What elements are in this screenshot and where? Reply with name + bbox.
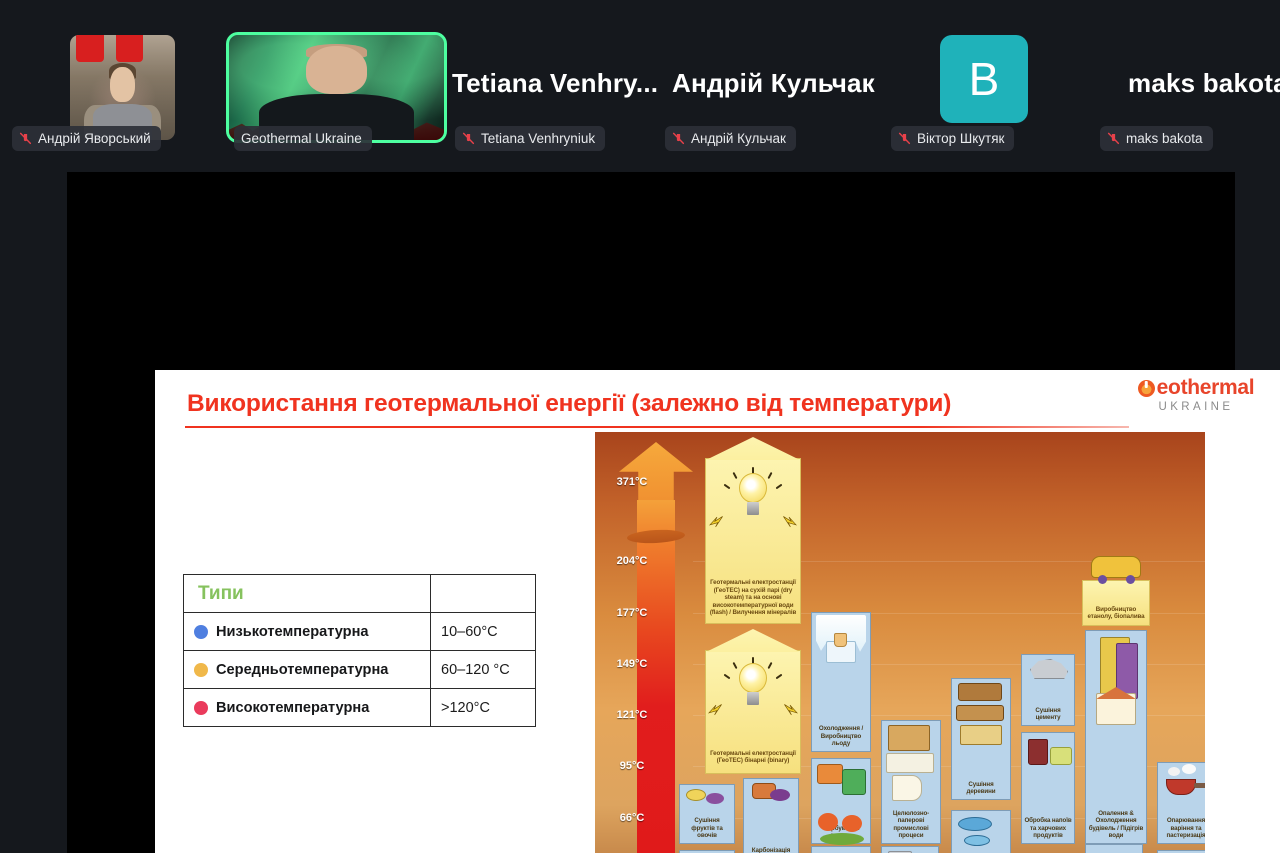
participant-display-name-andrii-kulchak: Андрій Кульчак (672, 68, 875, 99)
table-row: Середньотемпературна 60–120 °C (184, 651, 536, 689)
use-label: Целюлозно-паперові промислові процеси (884, 810, 938, 840)
arrow-break (627, 528, 686, 544)
table-row: Високотемпературна >120°C (184, 689, 536, 727)
use-label: Сушіння фруктів та овочів (682, 817, 732, 840)
lightning-bolt-icon (708, 515, 726, 529)
use-label: Геотермальні електростанції (ГеоТЕС) бін… (708, 750, 798, 765)
participant-display-name-tetiana: Tetiana Venhry... (452, 68, 658, 99)
participant-tile-andrii-yavorskyi[interactable] (70, 35, 175, 140)
geothermal-ukraine-logo: eothermal UKRAINE (1116, 376, 1276, 413)
temp-tick-95: 95°C (595, 760, 669, 772)
table-row: Низькотемпературна 10–60°C (184, 613, 536, 651)
car-icon (1091, 556, 1141, 578)
microphone-off-icon (462, 131, 475, 146)
title-underline (185, 426, 1129, 428)
temp-tick-177: 177°C (595, 607, 669, 619)
participant-name-pill: Geothermal Ukraine (234, 126, 372, 151)
use-column-snow-melting: Танення снігу & видалення льоду (1085, 844, 1143, 853)
temp-tick-371: 371°C (595, 476, 669, 488)
participant-tile-geothermal-ukraine[interactable] (229, 35, 444, 140)
temp-tick-149: 149°C (595, 658, 669, 670)
use-label: Опарювання варіння та пастеризація (1160, 817, 1205, 840)
high-temp-dot-icon (194, 701, 208, 715)
slide-title: Використання геотермальної енергії (зале… (187, 390, 951, 418)
participant-filmstrip: Андрій Яворський Geothermal Ukraine Teti… (0, 0, 1280, 172)
use-column-beverage-carbonation: Карбонізація напоїв (743, 778, 799, 853)
presentation-slide: Використання геотермальної енергії (зале… (155, 370, 1280, 853)
table-header-cell-empty (431, 575, 536, 613)
use-label: Обробка напоїв та харчових продуктів (1024, 817, 1072, 840)
table-cell-range: >120°C (431, 689, 536, 727)
participant-name-pill: Tetiana Venhryniuk (455, 126, 605, 151)
arrow-head (619, 442, 693, 504)
snow-icon (1090, 849, 1138, 853)
type-label: Низькотемпературна (216, 624, 369, 640)
clothes-icon (817, 764, 843, 784)
video-feed (229, 35, 444, 140)
participant-name-pill: Андрій Яворський (12, 126, 161, 151)
fish-icon (958, 817, 992, 831)
participant-name: Андрій Кульчак (691, 131, 786, 146)
shared-screen-area[interactable]: Використання геотермальної енергії (зале… (67, 172, 1235, 853)
lightning-bolt-icon (781, 703, 799, 717)
participant-name-pill: Андрій Кульчак (665, 126, 796, 151)
webcam-image (70, 35, 175, 140)
use-column-greenhouse: Тепличне господарство та стерилізація ґр… (811, 846, 871, 853)
food-icon (1028, 739, 1048, 765)
table-cell-type: Низькотемпературна (184, 613, 431, 651)
medium-temp-dot-icon (194, 663, 208, 677)
low-temp-dot-icon (194, 625, 208, 639)
use-column-concrete-curing: Затвердіння бетонних блоків (881, 846, 939, 853)
table-header-row: Типи (184, 575, 536, 613)
type-label: Середньотемпературна (216, 662, 388, 678)
table-cell-type: Середньотемпературна (184, 651, 431, 689)
lightning-bolt-icon (780, 515, 798, 529)
microphone-off-icon (1107, 131, 1120, 146)
greenhouse-icon (818, 813, 838, 831)
temp-tick-204: 204°C (595, 555, 669, 567)
use-column-aquaculture: Вирощування аквакультур (951, 810, 1011, 853)
logo-wordmark: eothermal (1116, 376, 1276, 400)
table-cell-range: 60–120 °C (431, 651, 536, 689)
use-column-pulp-paper: Целюлозно-паперові промислові процеси (881, 720, 941, 844)
microphone-off-icon (19, 131, 32, 146)
microphone-off-icon (672, 131, 685, 146)
table-header-cell: Типи (184, 575, 431, 613)
fruit-icon (686, 789, 706, 801)
use-column-cooling-ice: Охолодження / Виробництво льоду (811, 612, 871, 752)
cement-icon (1030, 659, 1068, 679)
use-label: Опалення & Охолодження будівель / Підігр… (1088, 810, 1144, 840)
participant-name: Tetiana Venhryniuk (481, 131, 595, 146)
use-label: Охолодження / Виробництво льоду (814, 725, 868, 748)
arrow-bar (637, 500, 675, 853)
webcam-image (229, 35, 444, 140)
use-label: Сушіння цементу (1024, 707, 1072, 722)
participant-name: Geothermal Ukraine (241, 131, 362, 146)
paper-icon (888, 725, 930, 751)
types-table: Типи Низькотемпературна 10–60°C (183, 574, 536, 727)
temp-tick-66: 66°C (595, 812, 669, 824)
table-cell-range: 10–60°C (431, 613, 536, 651)
table-cell-type: Високотемпературна (184, 689, 431, 727)
microphone-off-icon (898, 131, 911, 146)
logo-subtitle: UKRAINE (1116, 401, 1276, 413)
zoom-meeting-window: Андрій Яворський Geothermal Ukraine Teti… (0, 0, 1280, 853)
participant-name-pill: Віктор Шкутяк (891, 126, 1014, 151)
use-label: Геотермальні електростанції (ГеоТЕС) на … (708, 579, 798, 617)
lightning-bolt-icon (707, 703, 725, 717)
logo-word-text: eothermal (1157, 376, 1255, 400)
use-column-fruit-veg-drying: Сушіння фруктів та овочів (679, 784, 735, 844)
use-label: Карбонізація напоїв (746, 847, 796, 853)
use-column-geotes-binary: Геотермальні електростанції (ГеоТЕС) бін… (705, 650, 801, 774)
participant-name: Віктор Шкутяк (917, 131, 1004, 146)
participant-tile-viktor-shkutiak[interactable]: В (940, 35, 1028, 140)
use-column-cement-drying: Сушіння цементу (1021, 654, 1075, 726)
use-column-fabric-dyeing: Фарбування тканин (811, 758, 871, 844)
timber-icon (958, 683, 1002, 701)
temp-tick-121: 121°C (595, 709, 669, 721)
geothermal-g-mark-icon (1138, 380, 1155, 397)
geothermal-temperature-infographic: 371°C 204°C 177°C 149°C 121°C 95°C 66°C … (595, 432, 1205, 853)
use-column-geotes-dry-steam: Геотермальні електростанції (ГеоТЕС) на … (705, 458, 801, 624)
participant-name: Андрій Яворський (38, 131, 151, 146)
use-label: Сушіння деревини (954, 781, 1008, 796)
participant-name: maks bakota (1126, 131, 1203, 146)
use-column-beverage-processing: Обробка напоїв та харчових продуктів (1021, 732, 1075, 844)
use-column-evaporation-pasteurization: Опарювання варіння та пастеризація (1157, 762, 1205, 844)
table-header-label: Типи (194, 583, 420, 605)
video-feed (70, 35, 175, 140)
participant-display-name-maks-bakota: maks bakota (1128, 68, 1280, 99)
participant-name-pill: maks bakota (1100, 126, 1213, 151)
use-column-space-heating: Опалення & Охолодження будівель / Підігр… (1085, 630, 1147, 844)
use-column-wood-drying: Сушіння деревини (951, 678, 1011, 800)
avatar: В (940, 35, 1028, 123)
use-column-ethanol-biofuel: Виробництво етанолу, біопалива (1082, 580, 1150, 626)
pan-icon (1166, 779, 1196, 795)
type-label: Високотемпературна (216, 700, 369, 716)
use-label: Виробництво етанолу, біопалива (1085, 606, 1147, 621)
avatar-initial: В (969, 56, 1000, 102)
